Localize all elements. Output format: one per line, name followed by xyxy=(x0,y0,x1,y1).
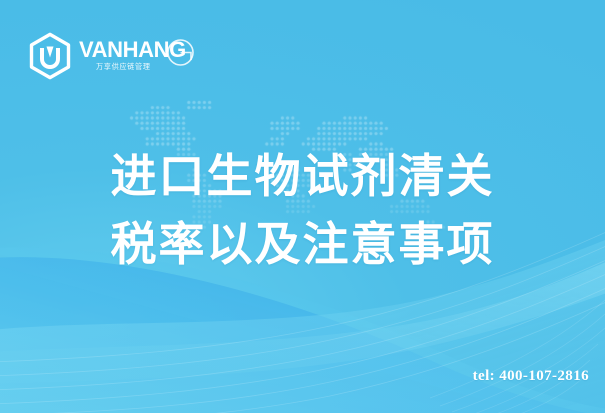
page-title: 进口生物试剂清关 税率以及注意事项 xyxy=(0,142,605,278)
headline-line-1: 进口生物试剂清关 xyxy=(0,142,605,210)
brand-logo[interactable]: VANHANG 万享供应链管理 xyxy=(27,30,197,82)
headline-line-2: 税率以及注意事项 xyxy=(0,210,605,278)
vanhang-wordmark: VANHANG 万享供应链管理 xyxy=(79,34,199,78)
wordmark-subtitle: 万享供应链管理 xyxy=(96,62,151,71)
contact-telephone[interactable]: tel: 400-107-2816 xyxy=(473,368,589,385)
promo-banner: VANHANG 万享供应链管理 进口生物试剂清关 税率以及注意事项 tel: 4… xyxy=(0,0,605,413)
vanhang-hexagon-mark-icon xyxy=(27,32,73,80)
